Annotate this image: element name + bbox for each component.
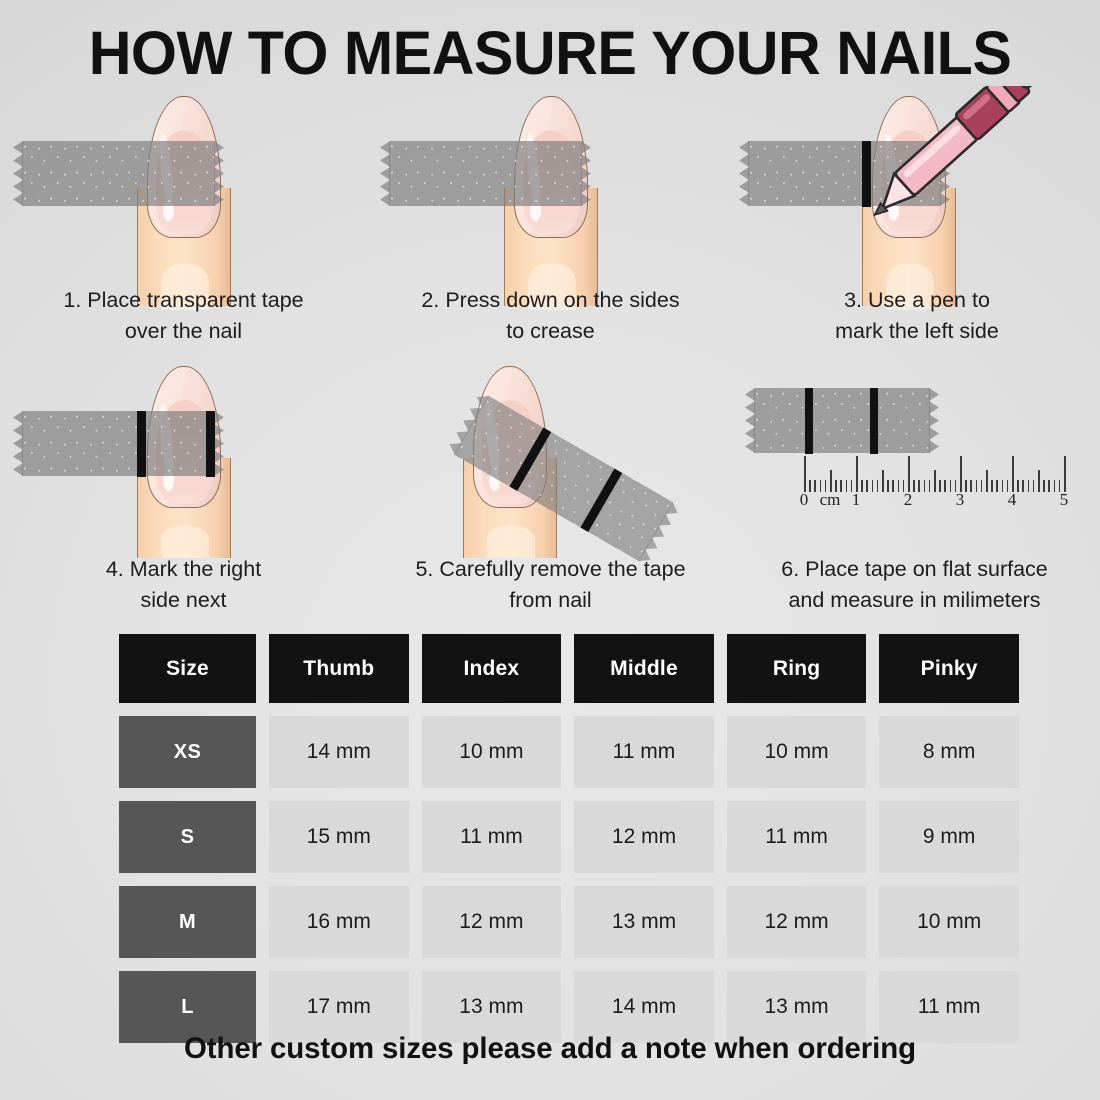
step-2: 2. Press down on the sides to crease — [367, 88, 734, 358]
ruler-ticks — [804, 454, 1064, 492]
table-data-cell: 14 mm — [269, 716, 409, 788]
size-table: SizeThumbIndexMiddleRingPinky XS14 mm10 … — [119, 634, 1019, 1056]
step-6-caption-line2: and measure in milimeters — [729, 585, 1100, 616]
ruler-tick — [934, 470, 936, 492]
ruler-label-3: 3 — [940, 490, 980, 510]
table-header-thumb: Thumb — [269, 634, 409, 703]
ruler-tick — [882, 470, 884, 492]
step-5-caption-line2: from nail — [367, 585, 734, 616]
ruler-tick — [856, 456, 858, 492]
page-title: HOW TO MEASURE YOUR NAILS — [17, 18, 1084, 88]
step-2-caption: 2. Press down on the sides to crease — [367, 285, 734, 347]
step-1: 1. Place transparent tape over the nail — [0, 88, 367, 358]
ruler-tick — [960, 456, 962, 492]
table-row: XS14 mm10 mm11 mm10 mm8 mm — [119, 716, 1019, 788]
table-header-ring: Ring — [727, 634, 867, 703]
transparent-tape — [22, 141, 215, 206]
table-data-cell: 11 mm — [422, 801, 562, 873]
table-data-cell: 11 mm — [574, 716, 714, 788]
table-row: M16 mm12 mm13 mm12 mm10 mm — [119, 886, 1019, 958]
tape-edge-left-icon — [380, 141, 390, 206]
table-header-index: Index — [422, 634, 562, 703]
ruler-icon: 012345cm — [804, 454, 1064, 509]
ruler-tick — [1064, 456, 1066, 492]
transparent-tape — [754, 388, 930, 453]
steps-section: 1. Place transparent tape over the nail — [0, 88, 1100, 366]
ruler-tick — [1012, 456, 1014, 492]
table-size-cell-m: M — [119, 886, 256, 958]
step-3: 3. Use a pen to mark the left side — [734, 88, 1100, 358]
tape-edge-right-icon — [214, 411, 224, 476]
step-3-caption-line2: mark the left side — [734, 316, 1100, 347]
step-6: 012345cm 6. Place tape on flat surface a… — [734, 366, 1100, 626]
step-6-caption: 6. Place tape on flat surface and measur… — [729, 554, 1100, 616]
table-data-cell: 10 mm — [727, 716, 867, 788]
table-header-pinky: Pinky — [879, 634, 1019, 703]
step-4: 4. Mark the right side next — [0, 366, 367, 626]
table-data-cell: 12 mm — [727, 886, 867, 958]
table-size-cell-xs: XS — [119, 716, 256, 788]
ruler-tick — [1038, 470, 1040, 492]
step-1-caption-line1: 1. Place transparent tape — [0, 285, 367, 316]
step-6-caption-line1: 6. Place tape on flat surface — [729, 554, 1100, 585]
tape-edge-right-icon — [929, 388, 939, 453]
ruler-labels: 012345cm — [804, 490, 1064, 512]
tape-edge-right-icon — [581, 141, 591, 206]
step-4-caption: 4. Mark the right side next — [0, 554, 367, 616]
table-data-cell: 12 mm — [422, 886, 562, 958]
table-data-cell: 15 mm — [269, 801, 409, 873]
ruler-tick — [804, 456, 806, 492]
step-5-caption-line1: 5. Carefully remove the tape — [367, 554, 734, 585]
step-2-caption-line1: 2. Press down on the sides — [367, 285, 734, 316]
table-data-cell: 16 mm — [269, 886, 409, 958]
footer-note: Other custom sizes please add a note whe… — [11, 1032, 1089, 1066]
ruler-tick — [908, 456, 910, 492]
table-row: S15 mm11 mm12 mm11 mm9 mm — [119, 801, 1019, 873]
ruler-tick — [986, 470, 988, 492]
table-data-cell: 13 mm — [574, 886, 714, 958]
step-4-caption-line2: side next — [0, 585, 367, 616]
table-data-cell: 10 mm — [422, 716, 562, 788]
tape-edge-left-icon — [13, 411, 23, 476]
step-2-caption-line2: to crease — [367, 316, 734, 347]
table-header-size: Size — [119, 634, 256, 703]
ruler-label-5: 5 — [1044, 490, 1084, 510]
table-size-cell-s: S — [119, 801, 256, 873]
step-3-caption-line1: 3. Use a pen to — [734, 285, 1100, 316]
step-4-caption-line1: 4. Mark the right — [0, 554, 367, 585]
table-data-cell: 12 mm — [574, 801, 714, 873]
table-data-cell: 11 mm — [727, 801, 867, 873]
table-data-cell: 8 mm — [879, 716, 1019, 788]
step-1-caption-line2: over the nail — [0, 316, 367, 347]
step-5-caption: 5. Carefully remove the tape from nail — [367, 554, 734, 616]
transparent-tape — [389, 141, 582, 206]
tape-edge-left-icon — [739, 141, 749, 206]
table-body: XS14 mm10 mm11 mm10 mm8 mmS15 mm11 mm12 … — [119, 716, 1019, 1043]
tape-edge-right-icon — [214, 141, 224, 206]
ruler-label-2: 2 — [888, 490, 928, 510]
pen-icon — [852, 86, 1042, 221]
step-1-caption: 1. Place transparent tape over the nail — [0, 285, 367, 347]
pen-mark-right — [206, 411, 215, 477]
table-header-middle: Middle — [574, 634, 714, 703]
table-data-cell: 9 mm — [879, 801, 1019, 873]
tape-edge-left-icon — [13, 141, 23, 206]
table-data-cell: 10 mm — [879, 886, 1019, 958]
transparent-tape — [22, 411, 215, 476]
step-5: 5. Carefully remove the tape from nail — [367, 366, 734, 626]
pen-mark-right — [870, 388, 878, 454]
tape-edge-left-icon — [745, 388, 755, 453]
table-header-row: SizeThumbIndexMiddleRingPinky — [119, 634, 1019, 703]
pen-mark-left — [805, 388, 813, 454]
step-3-caption: 3. Use a pen to mark the left side — [734, 285, 1100, 347]
pen-mark-left — [137, 411, 146, 477]
ruler-unit-label: cm — [810, 490, 850, 510]
ruler-tick — [830, 470, 832, 492]
ruler-label-4: 4 — [992, 490, 1032, 510]
